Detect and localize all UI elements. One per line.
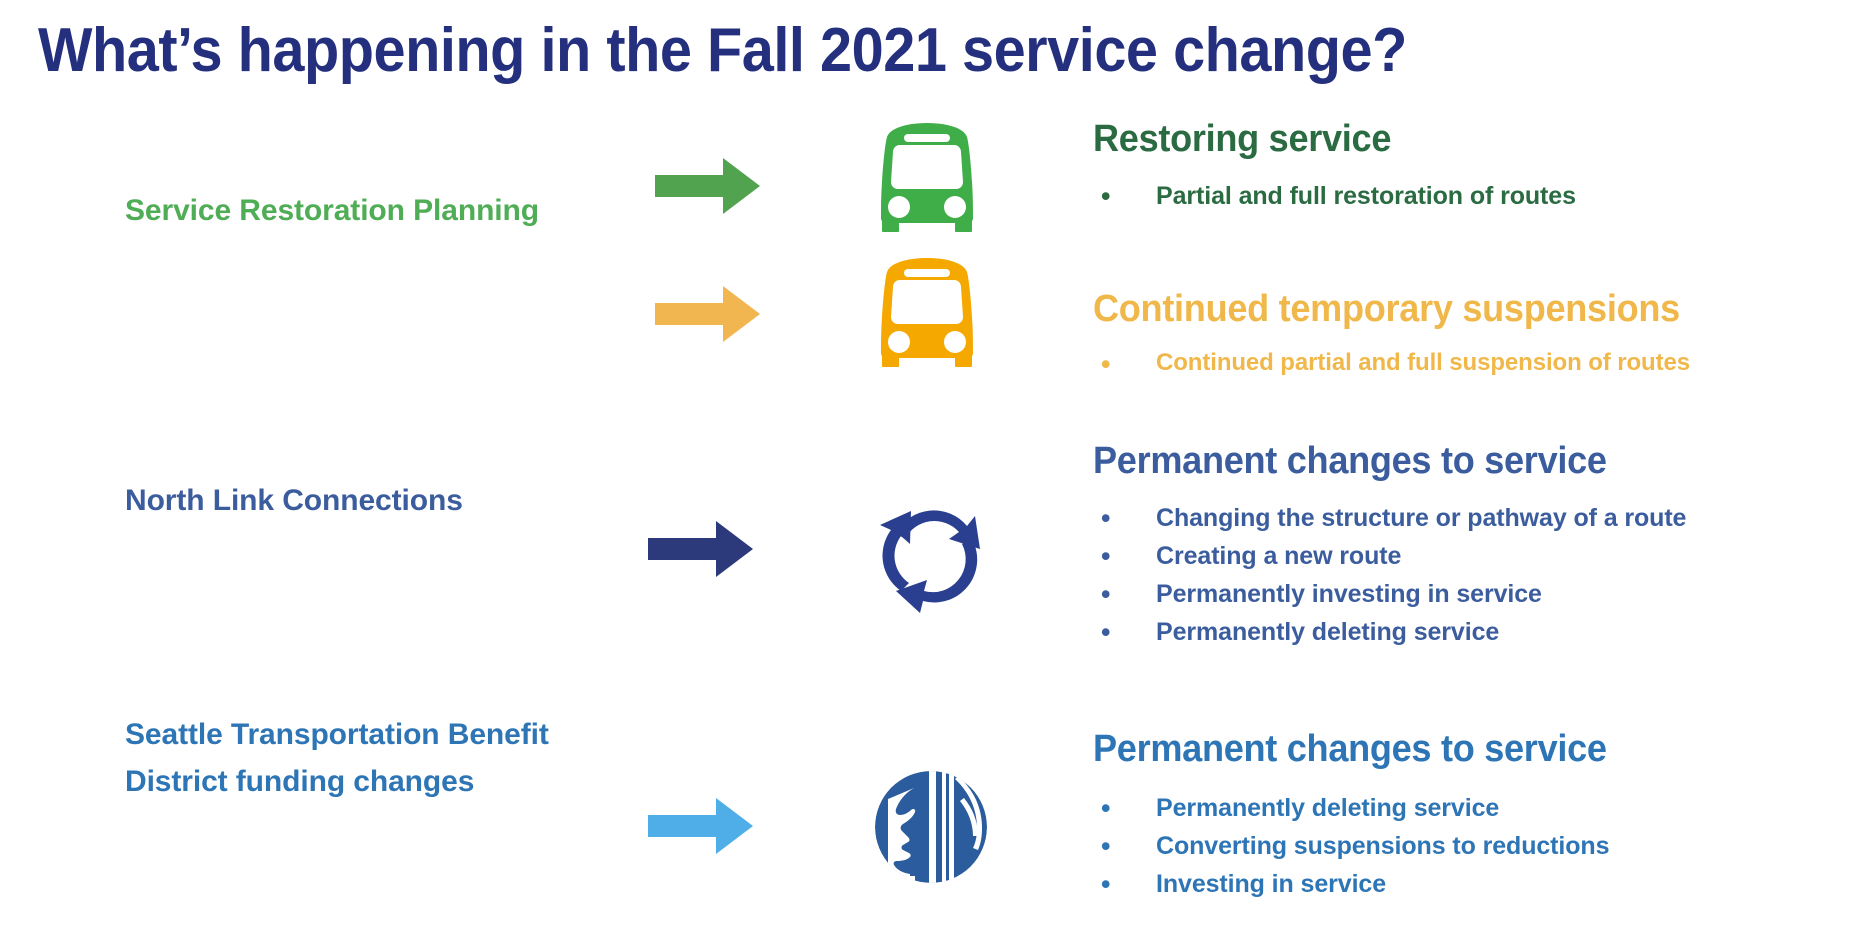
list-item: Creating a new route: [1093, 537, 1853, 575]
section-heading: Permanent changes to service: [1093, 728, 1815, 771]
right-arrow-icon: [648, 518, 753, 580]
section-permanent-changes-north-link: Permanent changes to service Changing th…: [1093, 440, 1853, 652]
bullet-list: Permanently deleting service Converting …: [1093, 789, 1853, 904]
section-permanent-changes-stbd: Permanent changes to service Permanently…: [1093, 728, 1853, 903]
list-item: Changing the structure or pathway of a r…: [1093, 499, 1853, 537]
bus-icon: [870, 255, 984, 367]
bullet-list: Changing the structure or pathway of a r…: [1093, 499, 1853, 652]
list-item: Investing in service: [1093, 865, 1853, 903]
list-item: Continued partial and full suspension of…: [1093, 345, 1853, 382]
right-arrow-icon: [655, 283, 760, 345]
category-label-north-link-connections: North Link Connections: [125, 478, 555, 525]
category-label-seattle-transportation-benefit-district: Seattle Transportation Benefit District …: [125, 712, 575, 806]
bullet-list: Partial and full restoration of routes: [1093, 177, 1853, 215]
list-item: Converting suspensions to reductions: [1093, 827, 1853, 865]
section-heading: Continued temporary suspensions: [1093, 288, 1815, 331]
right-arrow-icon: [648, 795, 753, 857]
list-item: Permanently investing in service: [1093, 575, 1853, 613]
category-label-service-restoration-planning: Service Restoration Planning: [125, 188, 555, 235]
list-item: Permanently deleting service: [1093, 789, 1853, 827]
bullet-list: Continued partial and full suspension of…: [1093, 345, 1853, 382]
city-of-seattle-logo-icon: [872, 768, 990, 886]
section-restoring-service: Restoring service Partial and full resto…: [1093, 118, 1853, 215]
list-item: Permanently deleting service: [1093, 613, 1853, 651]
right-arrow-icon: [655, 155, 760, 217]
section-heading: Permanent changes to service: [1093, 440, 1815, 483]
section-continued-temporary-suspensions: Continued temporary suspensions Continue…: [1093, 288, 1853, 381]
circular-arrows-icon: [872, 495, 990, 613]
page-title: What’s happening in the Fall 2021 servic…: [38, 16, 1703, 85]
slide-canvas: What’s happening in the Fall 2021 servic…: [0, 0, 1854, 938]
section-heading: Restoring service: [1093, 118, 1815, 161]
bus-icon: [870, 120, 984, 232]
list-item: Partial and full restoration of routes: [1093, 177, 1853, 215]
